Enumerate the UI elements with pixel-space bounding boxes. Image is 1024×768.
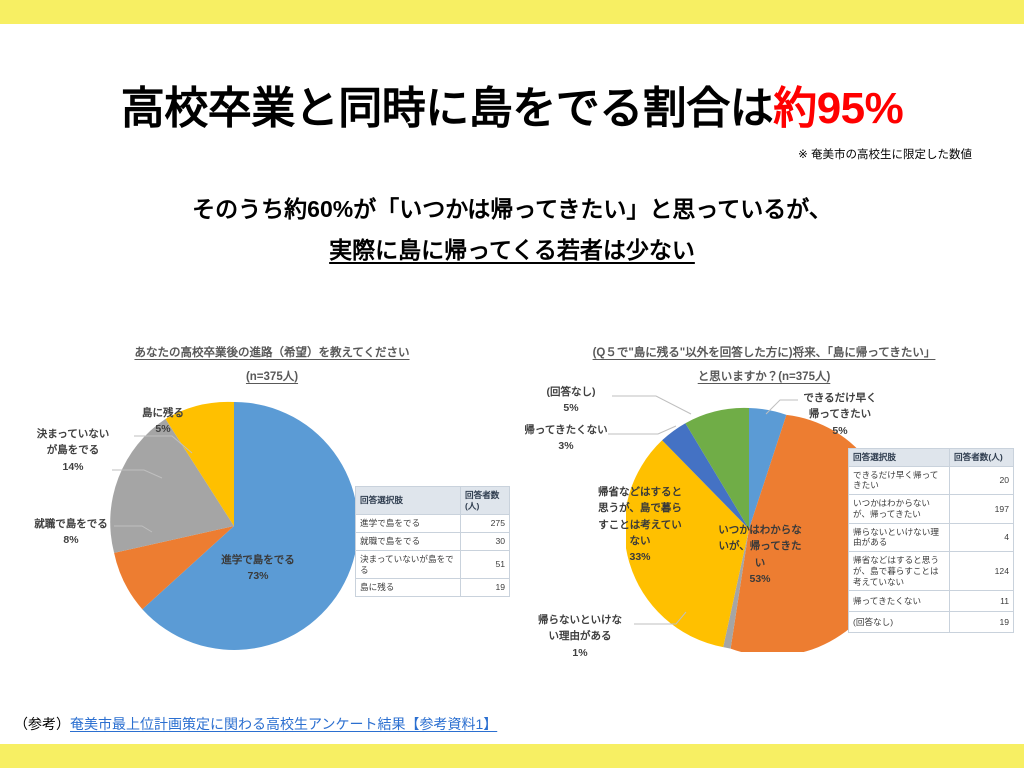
table-row: 進学で島をでる 275 bbox=[356, 515, 510, 533]
right-label-hayaku: できるだけ早く 帰ってきたい 5% bbox=[794, 390, 886, 439]
left-table-cell-choice: 決まっていないが島をでる bbox=[356, 550, 461, 578]
footer-source-link[interactable]: 奄美市最上位計画策定に関わる高校生アンケート結果【参考資料1】 bbox=[70, 716, 497, 732]
table-row: 決まっていないが島をでる 51 bbox=[356, 550, 510, 578]
left-chart-title-line2: (n=375人) bbox=[22, 368, 522, 384]
bottom-accent-band bbox=[0, 744, 1024, 768]
table-header-row: 回答選択肢 回答者数(人) bbox=[356, 487, 510, 515]
table-row: 就職で島をでる 30 bbox=[356, 533, 510, 551]
left-table-cell-count: 51 bbox=[461, 550, 510, 578]
left-table-cell-choice: 島に残る bbox=[356, 579, 461, 597]
right-label-kaeritakunai: 帰ってきたくない 3% bbox=[518, 422, 614, 455]
title-footnote: ※ 奄美市の高校生に限定した数値 bbox=[798, 146, 972, 162]
right-table-header-count: 回答者数(人) bbox=[950, 449, 1014, 467]
subtitle-line-1: そのうち約60%が「いつかは帰ってきたい」と思っているが、 bbox=[0, 190, 1024, 224]
left-table-cell-choice: 就職で島をでる bbox=[356, 533, 461, 551]
top-accent-band bbox=[0, 0, 1024, 24]
subtitle-line-2: 実際に島に帰ってくる若者は少ない bbox=[0, 231, 1024, 265]
right-table-cell-count: 11 bbox=[950, 591, 1014, 612]
right-table-cell-choice: 帰省などはすると思うが、島で暮らすことは考えていない bbox=[849, 552, 950, 591]
table-row: (回答なし) 19 bbox=[849, 612, 1014, 633]
page-title-main: 高校卒業と同時に島をでる割合は bbox=[121, 84, 774, 133]
page-title-accent: 約95% bbox=[773, 84, 903, 133]
right-data-table: 回答選択肢 回答者数(人) できるだけ早く帰ってきたい 20 いつかはわからない… bbox=[848, 448, 1014, 633]
right-label-kaitou-nashi: (回答なし) 5% bbox=[528, 384, 614, 417]
left-pie-svg bbox=[108, 400, 360, 652]
left-table-cell-choice: 進学で島をでる bbox=[356, 515, 461, 533]
right-table-cell-count: 197 bbox=[950, 495, 1014, 523]
left-label-kimatteinai: 決まっていない が島をでる 14% bbox=[30, 426, 116, 475]
left-chart-title-line1: あなたの高校卒業後の進路（希望）を教えてください bbox=[22, 344, 522, 360]
right-label-kaeranai: 帰らないといけな い理由がある 1% bbox=[530, 612, 630, 661]
table-row: 島に残る 19 bbox=[356, 579, 510, 597]
table-row: 帰らないといけない理由がある 4 bbox=[849, 523, 1014, 551]
left-table-header-choice: 回答選択肢 bbox=[356, 487, 461, 515]
table-row: いつかはわからないが、帰ってきたい 197 bbox=[849, 495, 1014, 523]
right-table-cell-count: 124 bbox=[950, 552, 1014, 591]
left-label-shingaku: 進学で島をでる 73% bbox=[210, 552, 306, 585]
left-label-nokoru: 島に残る 5% bbox=[126, 405, 200, 438]
subtitle-line-2-text: 実際に島に帰ってくる若者は少ない bbox=[329, 237, 695, 263]
table-header-row: 回答選択肢 回答者数(人) bbox=[849, 449, 1014, 467]
right-table-cell-choice: できるだけ早く帰ってきたい bbox=[849, 466, 950, 494]
right-label-kisei: 帰省などはすると 思うが、島で暮ら すことは考えてい ない 33% bbox=[588, 484, 692, 565]
page-title: 高校卒業と同時に島をでる割合は約95% bbox=[0, 72, 1024, 136]
right-table-header-choice: 回答選択肢 bbox=[849, 449, 950, 467]
table-row: できるだけ早く帰ってきたい 20 bbox=[849, 466, 1014, 494]
left-table-cell-count: 19 bbox=[461, 579, 510, 597]
right-label-itsuka: いつかはわからな いが、帰ってきた い 53% bbox=[708, 522, 812, 587]
right-table-cell-choice: (回答なし) bbox=[849, 612, 950, 633]
footer-prefix: （参考） bbox=[14, 716, 70, 732]
table-row: 帰ってきたくない 11 bbox=[849, 591, 1014, 612]
left-pie-chart bbox=[108, 400, 360, 652]
right-table-cell-choice: 帰らないといけない理由がある bbox=[849, 523, 950, 551]
left-table-cell-count: 275 bbox=[461, 515, 510, 533]
right-table-cell-count: 4 bbox=[950, 523, 1014, 551]
right-table-cell-choice: 帰ってきたくない bbox=[849, 591, 950, 612]
right-table-cell-choice: いつかはわからないが、帰ってきたい bbox=[849, 495, 950, 523]
footer-reference: （参考）奄美市最上位計画策定に関わる高校生アンケート結果【参考資料1】 bbox=[14, 714, 497, 734]
right-chart-title-line1: (Q５で"島に残る"以外を回答した方に)将来、「島に帰ってきたい」 bbox=[508, 344, 1020, 360]
right-table-cell-count: 19 bbox=[950, 612, 1014, 633]
right-table-cell-count: 20 bbox=[950, 466, 1014, 494]
table-row: 帰省などはすると思うが、島で暮らすことは考えていない 124 bbox=[849, 552, 1014, 591]
left-label-shushoku: 就職で島をでる 8% bbox=[28, 516, 114, 549]
left-data-table: 回答選択肢 回答者数(人) 進学で島をでる 275 就職で島をでる 30 決まっ… bbox=[355, 486, 510, 597]
left-table-cell-count: 30 bbox=[461, 533, 510, 551]
right-chart-title-line2: と思いますか？(n=375人) bbox=[508, 368, 1020, 384]
left-table-header-count: 回答者数(人) bbox=[461, 487, 510, 515]
